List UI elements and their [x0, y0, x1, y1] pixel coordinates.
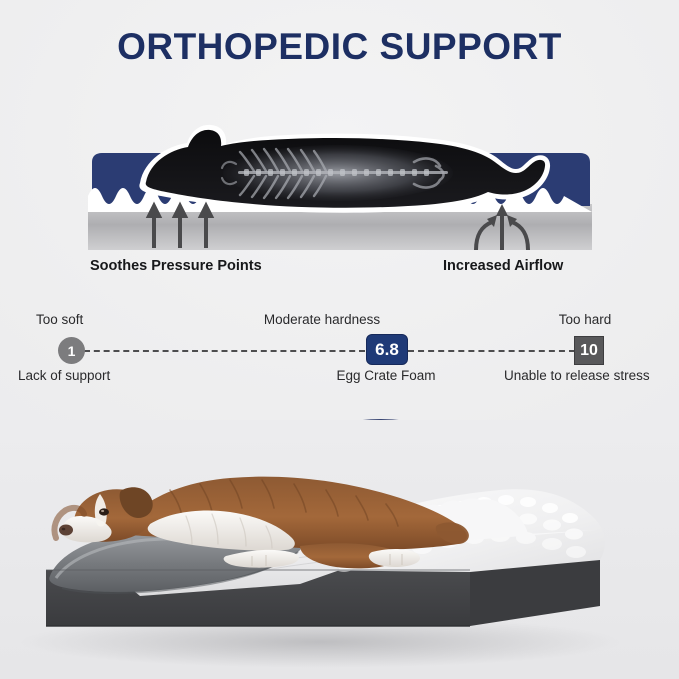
scale-label-too-hard: Too hard: [559, 312, 612, 327]
scale-label-moderate: Moderate hardness: [264, 312, 380, 327]
scale-sublabel-egg-crate-foam: Egg Crate Foam: [336, 368, 435, 383]
scale-marker-value: 6.8: [366, 334, 408, 365]
scale-dash-segment-left: [84, 350, 365, 352]
scale-dash-segment-right: [408, 350, 575, 352]
product-photo: [0, 420, 679, 679]
scale-sublabel-lack-of-support: Lack of support: [18, 368, 110, 383]
airflow-label: Increased Airflow: [443, 258, 563, 274]
foam-cutaway-diagram: [88, 100, 592, 250]
scale-marker-max: 10: [574, 336, 604, 365]
scale-label-too-soft: Too soft: [36, 312, 83, 327]
scale-marker-min: 1: [58, 337, 85, 364]
page-title: ORTHOPEDIC SUPPORT: [0, 26, 679, 68]
scale-sublabel-unable-to-release-stress: Unable to release stress: [504, 368, 650, 383]
pressure-points-label: Soothes Pressure Points: [90, 258, 262, 274]
infographic-page: ORTHOPEDIC SUPPORT: [0, 0, 679, 679]
